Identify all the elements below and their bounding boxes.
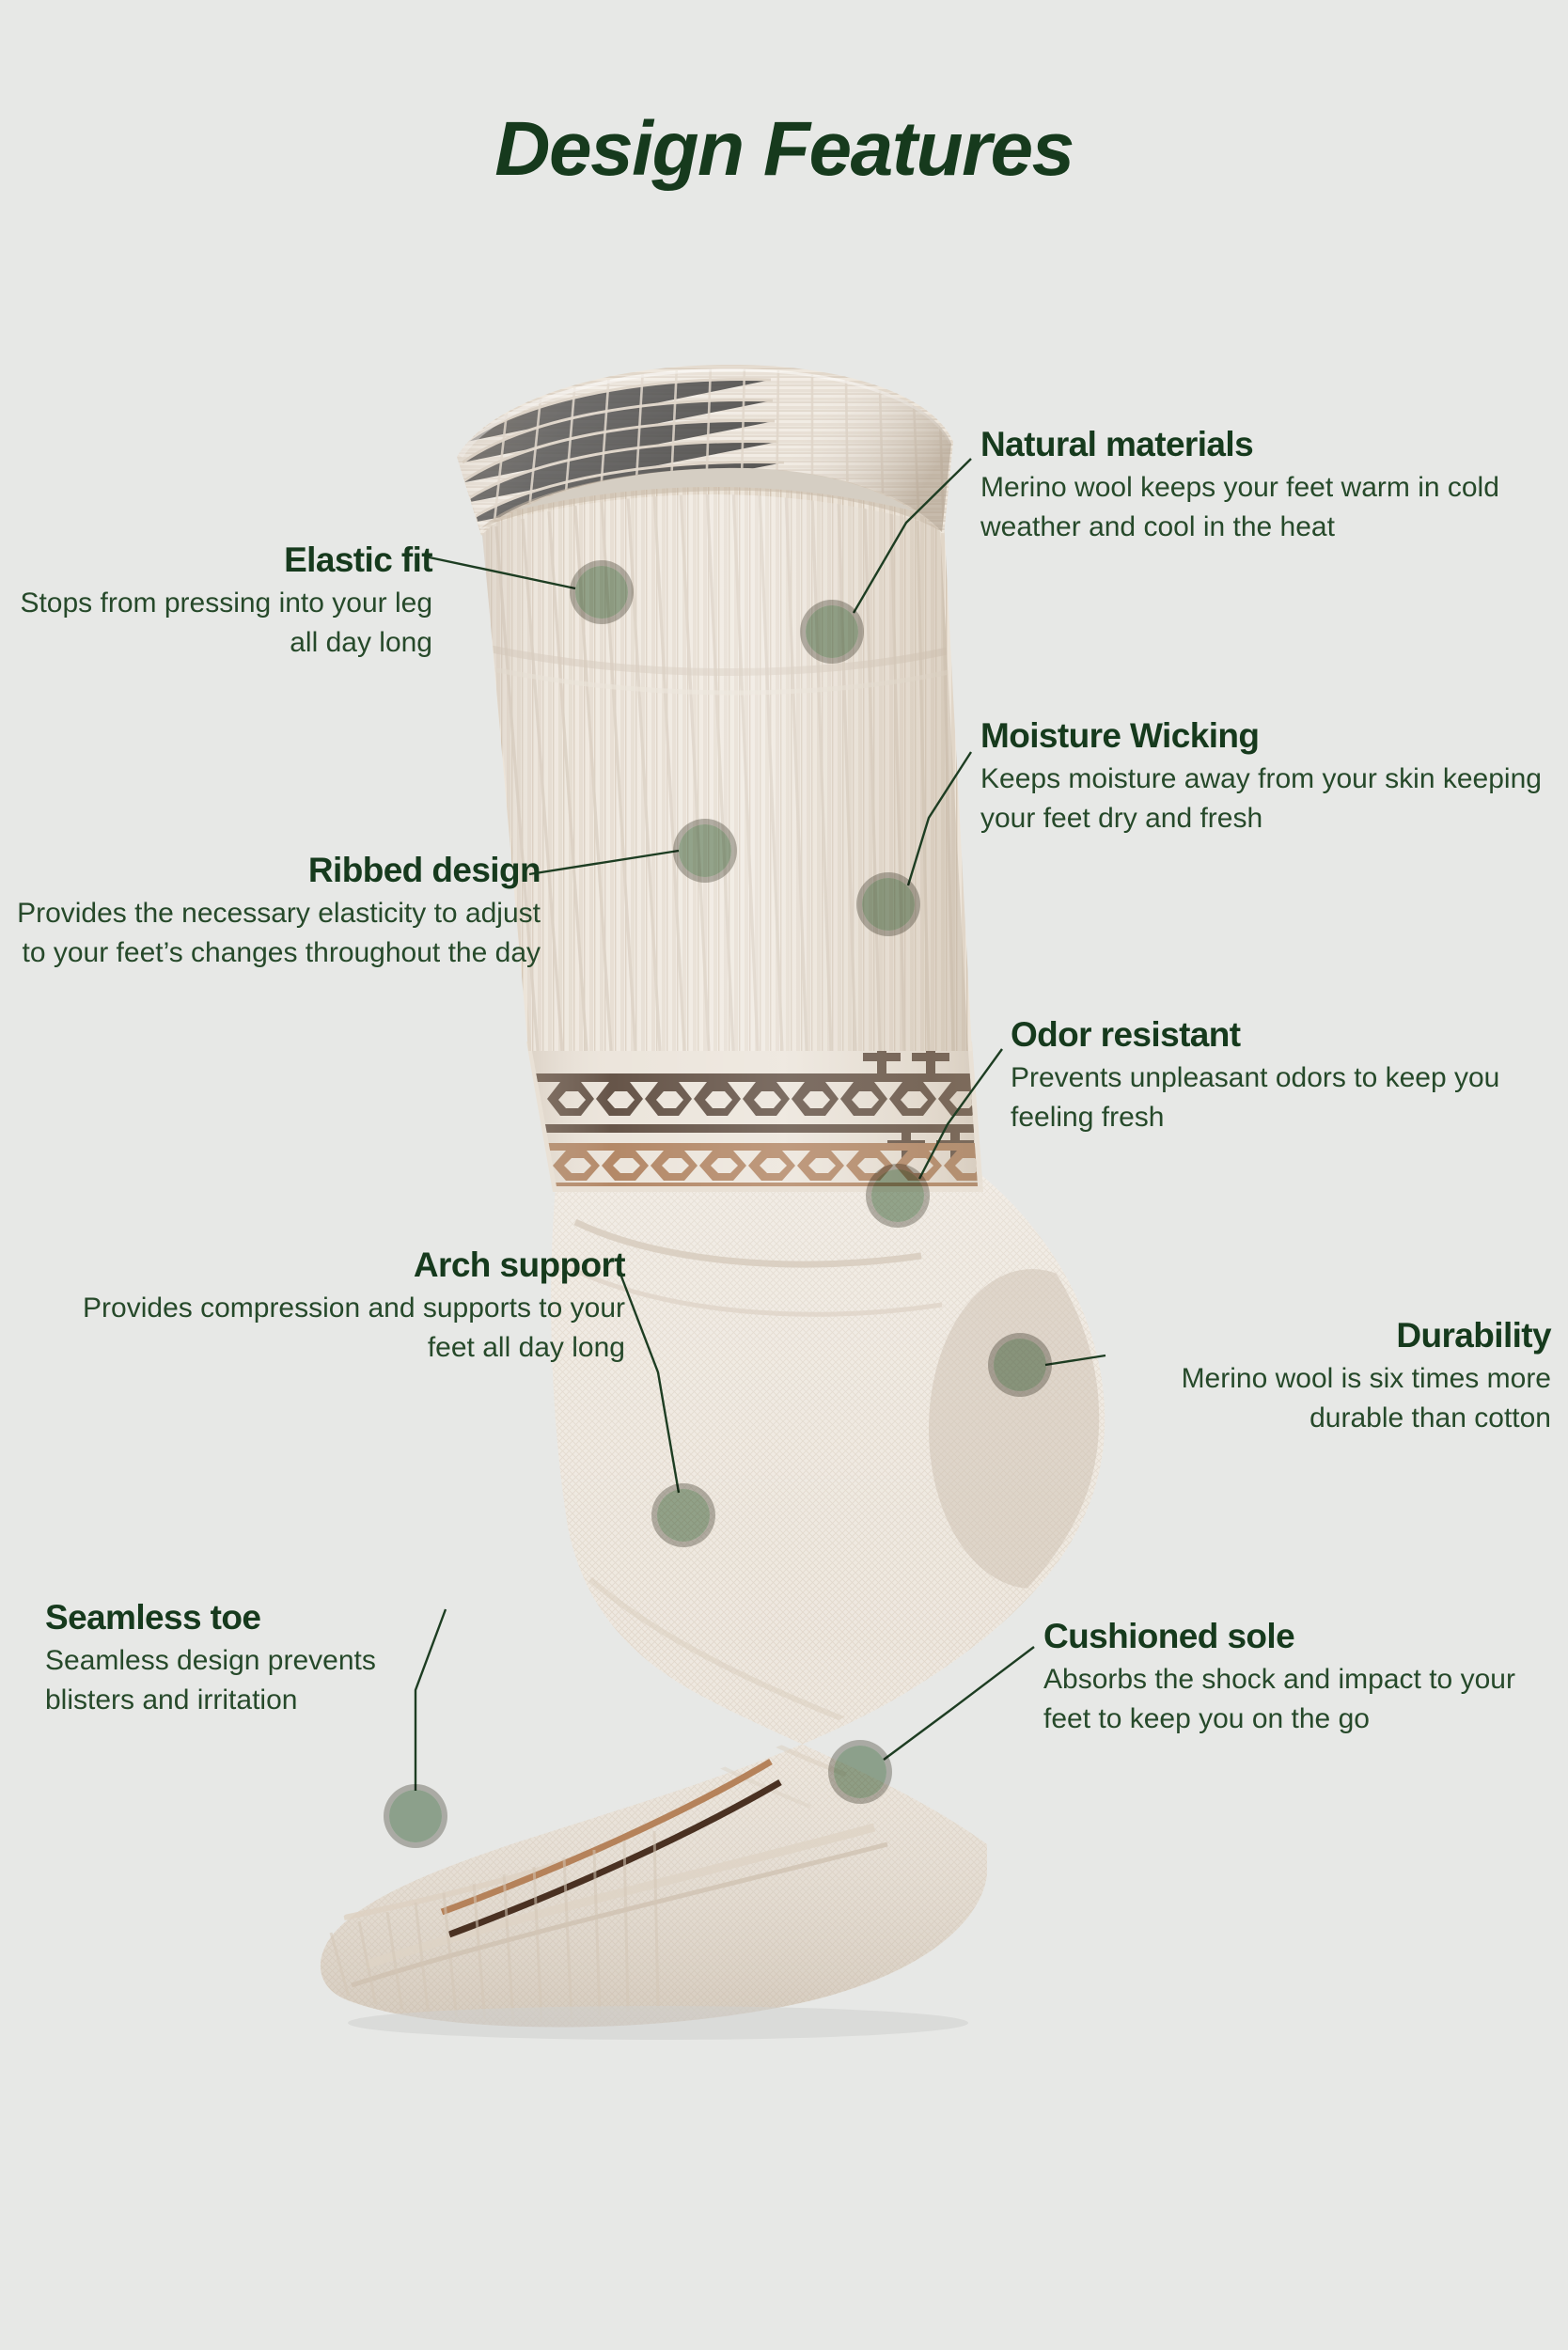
callout-title: Natural materials	[980, 425, 1544, 463]
marker-seamless-toe	[389, 1790, 442, 1842]
callout-title: Arch support	[28, 1245, 625, 1284]
line-moisture-wicking	[908, 752, 971, 885]
callout-connector-lines	[0, 0, 1568, 2350]
marker-arch-support	[657, 1489, 710, 1542]
line-durability	[1045, 1355, 1105, 1365]
callout-title: Seamless toe	[45, 1598, 440, 1637]
callout-title: Ribbed design	[0, 851, 541, 889]
line-ribbed-design	[529, 851, 679, 874]
callout-description: Absorbs the shock and impact to your fee…	[1043, 1660, 1551, 1737]
callout-title: Elastic fit	[9, 540, 432, 579]
marker-moisture-wicking	[862, 878, 915, 931]
line-odor-resistant	[919, 1049, 1002, 1179]
callout-arch-support: Arch support Provides compression and su…	[28, 1245, 625, 1367]
callout-seamless-toe: Seamless toe Seamless design prevents bl…	[45, 1598, 440, 1719]
callout-natural-materials: Natural materials Merino wool keeps your…	[980, 425, 1544, 546]
marker-elastic-fit	[575, 566, 628, 619]
marker-natural-materials	[806, 605, 858, 658]
callout-description: Keeps moisture away from your skin keepi…	[980, 760, 1544, 837]
callout-description: Merino wool is six times more durable th…	[1114, 1359, 1551, 1436]
marker-ribbed-design	[679, 824, 731, 877]
callout-durability: Durability Merino wool is six times more…	[1114, 1316, 1551, 1437]
marker-odor-resistant	[871, 1169, 924, 1222]
line-cushioned-sole	[884, 1647, 1034, 1760]
line-natural-materials	[854, 459, 971, 613]
infographic-canvas: Design Features	[0, 0, 1568, 2350]
callout-elastic-fit: Elastic fit Stops from pressing into you…	[9, 540, 432, 662]
callout-title: Moisture Wicking	[980, 716, 1544, 755]
callout-description: Seamless design prevents blisters and ir…	[45, 1641, 440, 1718]
callout-ribbed-design: Ribbed design Provides the necessary ela…	[0, 851, 541, 972]
line-elastic-fit	[425, 556, 575, 588]
marker-cushioned-sole	[834, 1746, 886, 1798]
callout-description: Provides the necessary elasticity to adj…	[0, 894, 541, 971]
callout-title: Odor resistant	[1011, 1015, 1560, 1054]
callout-description: Prevents unpleasant odors to keep you fe…	[1011, 1058, 1560, 1136]
callout-description: Provides compression and supports to you…	[28, 1289, 625, 1366]
callout-description: Stops from pressing into your leg all da…	[9, 584, 432, 661]
callout-title: Durability	[1114, 1316, 1551, 1355]
marker-durability	[994, 1339, 1046, 1391]
callout-title: Cushioned sole	[1043, 1617, 1551, 1655]
callout-odor-resistant: Odor resistant Prevents unpleasant odors…	[1011, 1015, 1560, 1136]
line-arch-support	[619, 1269, 679, 1493]
callout-cushioned-sole: Cushioned sole Absorbs the shock and imp…	[1043, 1617, 1551, 1738]
callout-moisture-wicking: Moisture Wicking Keeps moisture away fro…	[980, 716, 1544, 838]
callout-description: Merino wool keeps your feet warm in cold…	[980, 468, 1544, 545]
